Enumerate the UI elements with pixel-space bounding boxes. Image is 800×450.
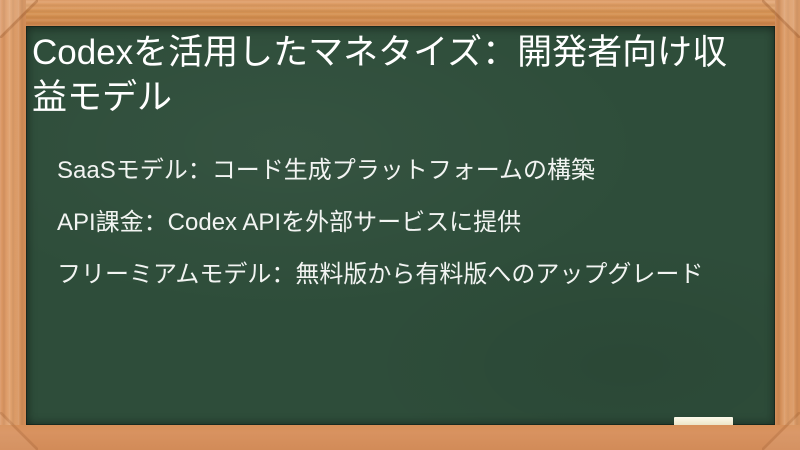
frame-bottom-ledge: [0, 425, 800, 450]
bullet-list: SaaSモデル：コード生成プラットフォームの構築 API課金：Codex API…: [57, 154, 757, 291]
chalkboard-slide: Codexを活用したマネタイズ：開発者向け収益モデル SaaSモデル：コード生成…: [0, 0, 800, 450]
chalkboard-surface: Codexを活用したマネタイズ：開発者向け収益モデル SaaSモデル：コード生成…: [26, 26, 775, 425]
frame-top-rail: [0, 0, 800, 26]
bullet-item: フリーミアムモデル：無料版から有料版へのアップグレード: [57, 258, 757, 291]
slide-content: Codexを活用したマネタイズ：開発者向け収益モデル SaaSモデル：コード生成…: [26, 26, 775, 425]
frame-left-rail: [0, 0, 26, 450]
slide-title: Codexを活用したマネタイズ：開発者向け収益モデル: [32, 30, 758, 120]
frame-right-rail: [775, 0, 800, 450]
bullet-item: SaaSモデル：コード生成プラットフォームの構築: [57, 154, 757, 187]
chalk-stick: [674, 417, 733, 425]
bullet-item: API課金：Codex APIを外部サービスに提供: [57, 206, 757, 239]
